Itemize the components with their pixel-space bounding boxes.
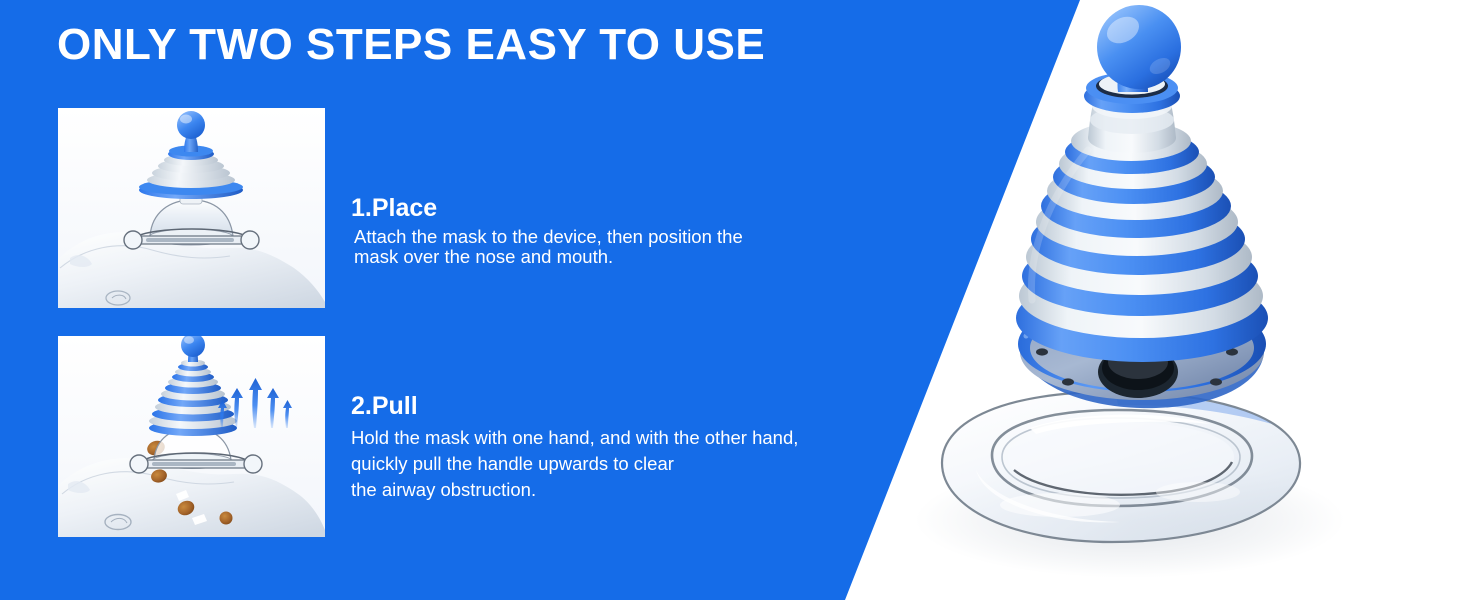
step-1-body-line-2: mask over the nose and mouth. xyxy=(354,247,821,268)
step-2-image xyxy=(58,336,325,537)
mask-cushion xyxy=(942,392,1300,542)
hero-product-image xyxy=(880,0,1464,600)
step-2-text-block: 2.Pull Hold the mask with one hand, and … xyxy=(351,392,871,504)
step-2-body-line-3: the airway obstruction. xyxy=(351,477,871,503)
promo-banner: ONLY TWO STEPS EASY TO USE xyxy=(0,0,1464,600)
step-1-title: 1.Place xyxy=(351,194,821,223)
step-2-body-line-1: Hold the mask with one hand, and with th… xyxy=(351,425,871,451)
bellows xyxy=(1016,72,1268,362)
step-1-text-block: 1.Place Attach the mask to the device, t… xyxy=(351,194,821,268)
page-title: ONLY TWO STEPS EASY TO USE xyxy=(57,22,765,68)
step-2-body-line-2: quickly pull the handle upwards to clear xyxy=(351,451,871,477)
step-1-body-line-1: Attach the mask to the device, then posi… xyxy=(354,227,821,248)
step-2-title: 2.Pull xyxy=(351,392,871,421)
step-1-image xyxy=(58,108,325,308)
